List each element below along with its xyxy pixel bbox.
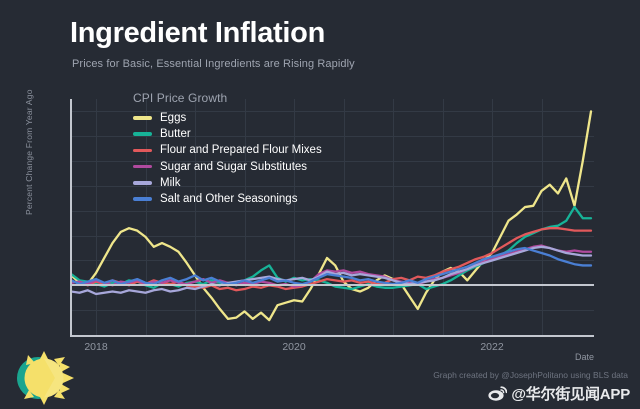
chart-header: Ingredient Inflation Prices for Basic, E… bbox=[70, 18, 610, 70]
watermark: @华尔街见闻APP bbox=[488, 383, 630, 404]
legend-label: Milk bbox=[160, 177, 180, 189]
legend-color-swatch bbox=[133, 132, 152, 136]
x-tick-label: 2022 bbox=[480, 341, 503, 353]
legend-color-swatch bbox=[133, 149, 152, 153]
legend-label: Flour and Prepared Flour Mixes bbox=[160, 144, 322, 156]
chart-legend: CPI Price Growth EggsButterFlour and Pre… bbox=[133, 91, 322, 207]
legend-title: CPI Price Growth bbox=[133, 91, 322, 105]
chart-credit: Graph created by @JosephPolitano using B… bbox=[433, 370, 628, 380]
legend-entries: EggsButterFlour and Prepared Flour Mixes… bbox=[133, 110, 322, 207]
weibo-icon bbox=[488, 386, 507, 401]
sun-eclipse-logo bbox=[4, 349, 82, 407]
legend-entry[interactable]: Flour and Prepared Flour Mixes bbox=[133, 142, 322, 158]
chart-subtitle: Prices for Basic, Essential Ingredients … bbox=[72, 58, 610, 70]
legend-entry[interactable]: Salt and Other Seasonings bbox=[133, 191, 322, 207]
legend-entry[interactable]: Butter bbox=[133, 126, 322, 142]
legend-color-swatch bbox=[133, 197, 152, 201]
series-line bbox=[72, 207, 591, 289]
chart-screenshot: Ingredient Inflation Prices for Basic, E… bbox=[0, 0, 640, 409]
watermark-text: @华尔街见闻APP bbox=[511, 383, 630, 404]
legend-label: Sugar and Sugar Substitutes bbox=[160, 161, 307, 173]
series-line bbox=[72, 228, 591, 290]
legend-label: Butter bbox=[160, 128, 191, 140]
page-title: Ingredient Inflation bbox=[70, 18, 610, 48]
x-tick-label: 2020 bbox=[282, 341, 305, 353]
legend-color-swatch bbox=[133, 181, 152, 185]
zero-reference-line bbox=[72, 284, 594, 286]
legend-entry[interactable]: Milk bbox=[133, 175, 322, 191]
legend-entry[interactable]: Sugar and Sugar Substitutes bbox=[133, 159, 322, 175]
x-axis-title: Date bbox=[575, 352, 594, 362]
y-axis-title: Percent Change From Year Ago bbox=[24, 89, 34, 215]
legend-color-swatch bbox=[133, 165, 152, 169]
legend-label: Salt and Other Seasonings bbox=[160, 193, 297, 205]
legend-label: Eggs bbox=[160, 112, 186, 124]
legend-entry[interactable]: Eggs bbox=[133, 110, 322, 126]
legend-color-swatch bbox=[133, 116, 152, 120]
x-tick-label: 2018 bbox=[84, 341, 107, 353]
